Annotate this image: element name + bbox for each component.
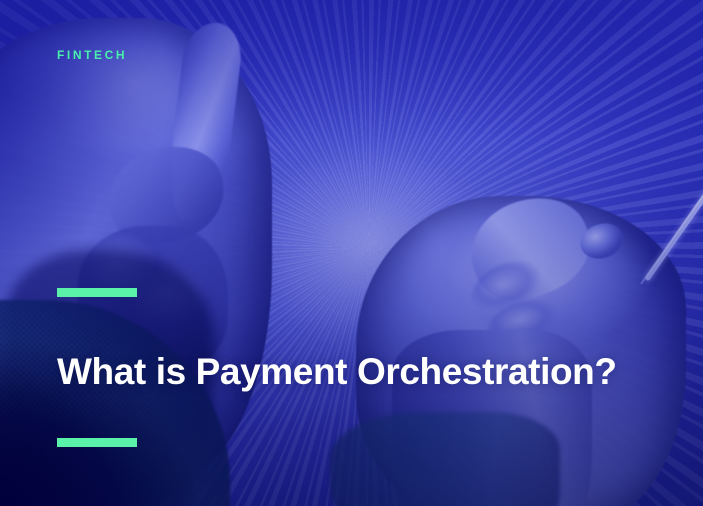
page-title: What is Payment Orchestration?: [57, 351, 657, 392]
blog-article-hero-card[interactable]: FINTECH What is Payment Orchestration?: [0, 0, 703, 506]
background-vignette: [0, 0, 703, 506]
category-eyebrow-label: FINTECH: [57, 48, 127, 62]
accent-rule-top: [57, 288, 137, 297]
accent-rule-bottom: [57, 438, 137, 447]
